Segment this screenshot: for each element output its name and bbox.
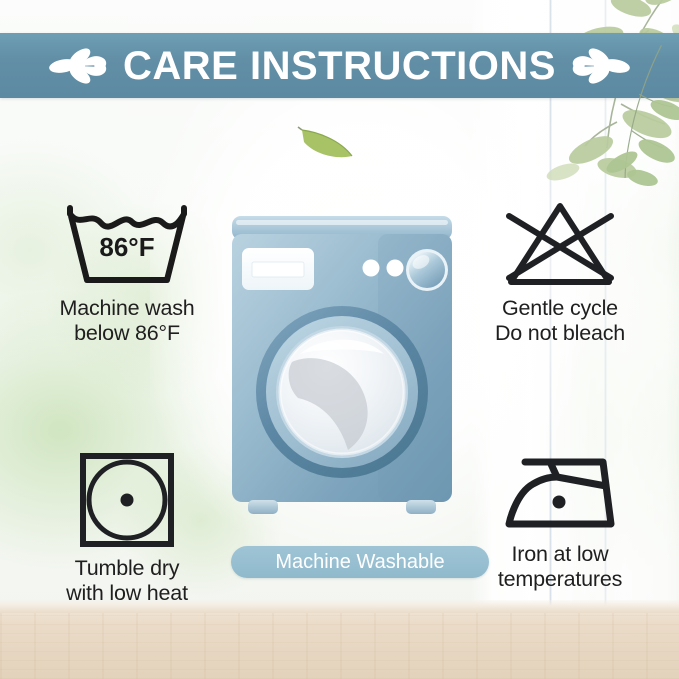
care-icon-caption: Machine wash below 86°F — [59, 296, 194, 346]
washing-machine-illustration — [228, 212, 456, 532]
title-banner: CARE INSTRUCTIONS — [0, 33, 679, 98]
machine-washable-badge: Machine Washable — [231, 546, 489, 578]
page-title: CARE INSTRUCTIONS — [123, 46, 556, 86]
care-instructions-infographic: CARE INSTRUCTIONS — [0, 0, 679, 679]
care-icon-machine-wash: 86°F Machine wash below 86°F — [18, 198, 236, 346]
iron-icon — [499, 450, 621, 536]
tumble-dry-icon — [77, 450, 177, 550]
floating-leaf-icon — [296, 120, 358, 164]
detergent-drawer — [242, 248, 314, 290]
wooden-table-surface — [0, 613, 679, 679]
care-icon-caption: Iron at low temperatures — [498, 542, 622, 592]
fleur-de-lis-icon — [49, 44, 111, 88]
washer-leg — [248, 500, 278, 514]
program-knob — [406, 249, 448, 291]
wash-temperature-label: 86°F — [99, 232, 154, 262]
care-icon-caption: Tumble dry with low heat — [66, 556, 188, 606]
washer-leg — [406, 500, 436, 514]
care-icon-caption: Gentle cycle Do not bleach — [495, 296, 625, 346]
care-icon-do-not-bleach: Gentle cycle Do not bleach — [452, 198, 668, 346]
fleur-de-lis-icon — [568, 44, 630, 88]
wash-tub-icon: 86°F — [60, 198, 194, 290]
do-not-bleach-triangle-icon — [501, 198, 619, 290]
care-icon-tumble-dry: Tumble dry with low heat — [18, 450, 236, 606]
washer-door — [256, 306, 428, 478]
